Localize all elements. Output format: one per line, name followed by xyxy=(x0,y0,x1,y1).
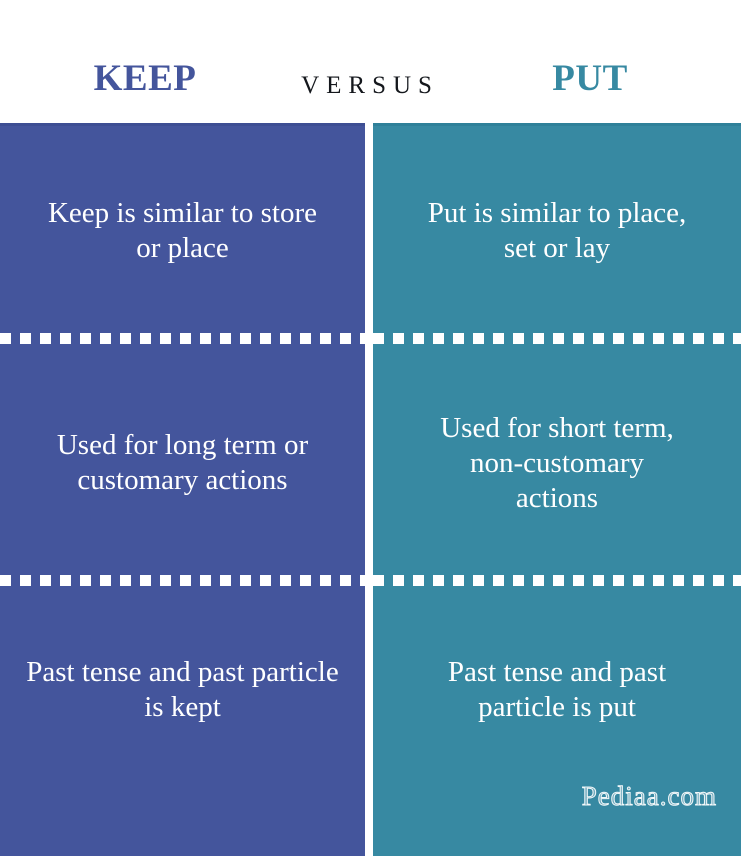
panel-keep: Keep is similar to store or place Used f… xyxy=(0,123,365,856)
panel-put-row-2: Used for short term, non-customary actio… xyxy=(373,350,741,576)
panel-put-row-1-text: Put is similar to place, set or lay xyxy=(427,196,687,266)
panel-keep-row-2: Used for long term or customary actions xyxy=(0,350,365,576)
panel-keep-row-1-text: Keep is similar to store or place xyxy=(33,196,333,266)
panel-put-row-2-text: Used for short term, non-customary actio… xyxy=(426,411,688,516)
panel-keep-row-2-text: Used for long term or customary actions xyxy=(33,428,333,498)
panel-keep-row-3: Past tense and past particle is kept xyxy=(0,590,365,790)
dashed-divider-left-1 xyxy=(0,333,365,344)
dashed-divider-right-1 xyxy=(373,333,741,344)
watermark: Pediaa.com xyxy=(582,781,717,811)
header: KEEP VERSUS PUT xyxy=(0,0,741,125)
header-title-versus: VERSUS xyxy=(255,64,485,108)
comparison-infographic: KEEP VERSUS PUT Keep is similar to store… xyxy=(0,0,741,853)
panel-keep-row-1: Keep is similar to store or place xyxy=(0,126,365,335)
panel-put-row-3-text: Past tense and past particle is put xyxy=(416,655,698,725)
dashed-divider-left-2 xyxy=(0,575,365,586)
dashed-divider-right-2 xyxy=(373,575,741,586)
panel-put-row-1: Put is similar to place, set or lay xyxy=(373,126,741,335)
header-title-left: KEEP xyxy=(0,57,290,101)
panel-put-row-3: Past tense and past particle is put xyxy=(373,590,741,790)
panel-keep-row-3-text: Past tense and past particle is kept xyxy=(24,655,342,725)
header-title-right: PUT xyxy=(460,57,720,101)
panel-put: Put is similar to place, set or lay Used… xyxy=(373,123,741,856)
comparison-panels: Keep is similar to store or place Used f… xyxy=(0,123,741,853)
